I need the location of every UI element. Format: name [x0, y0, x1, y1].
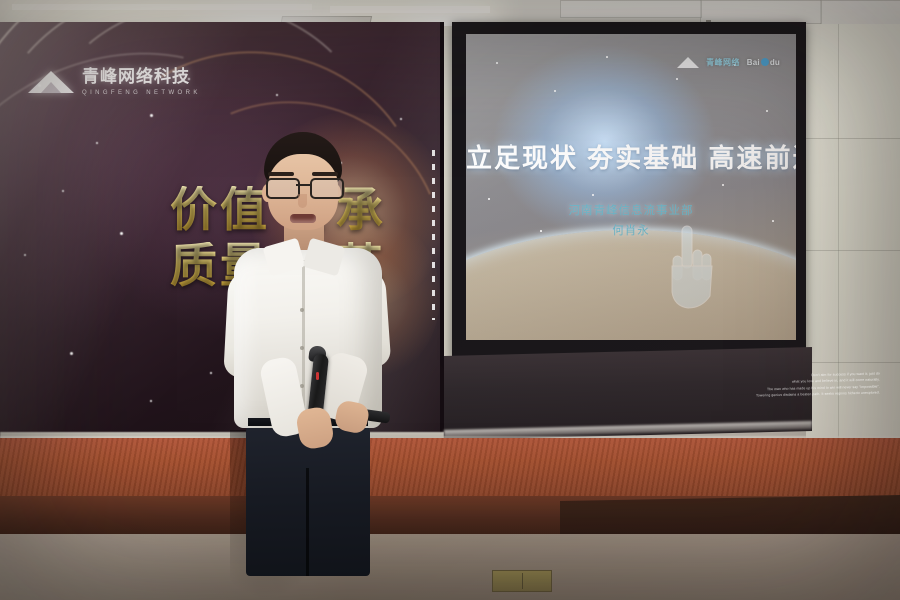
trouser-crease: [306, 468, 309, 576]
wall-seam: [838, 24, 839, 464]
glasses-lens: [266, 178, 300, 199]
ceiling-tile: [560, 0, 702, 18]
projection-screen: 青峰网络 Baidu 立足现状 夯实基础 高速前进 河南青峰信息流事业部 何肖永: [466, 34, 796, 340]
right-wall-panel: [806, 24, 900, 464]
sparkle: [24, 254, 26, 256]
speaker-eyebrow: [268, 172, 294, 176]
sparkle: [276, 94, 278, 96]
sparkle: [120, 232, 123, 235]
shirt-button: [300, 384, 304, 388]
baidu-logo: Baidu: [747, 58, 780, 67]
ceiling-light: [330, 6, 490, 13]
wall-seam: [806, 138, 900, 139]
backdrop-logo-en: QINGFENG NETWORK: [82, 90, 201, 96]
shirt-button: [300, 308, 304, 312]
sparkle: [96, 142, 98, 144]
mountain-logo-icon: [677, 56, 699, 69]
ceiling-tile: [820, 0, 900, 26]
speaker-shirt: [234, 248, 382, 428]
speaker-mouth: [290, 214, 316, 223]
shirt-button: [300, 346, 304, 350]
ceiling-tile: [700, 0, 822, 24]
slide-planet-rim: [466, 230, 796, 340]
glasses-bridge: [296, 184, 310, 186]
wall-seam: [806, 362, 900, 363]
speaker-eyebrow: [312, 172, 338, 176]
glowing-hand-pointing-icon: [662, 222, 716, 312]
speaker: [210, 132, 400, 462]
sparkle: [400, 118, 402, 120]
glasses-lens: [310, 178, 344, 199]
wall-seam: [806, 250, 900, 251]
stage-front-plaque: [492, 570, 552, 592]
slide-subtitle-department: 河南青峰信息流事业部: [466, 202, 796, 218]
baidu-logo-suffix: du: [770, 58, 780, 67]
banner-quote: Don't aim for success if you want it; ju…: [756, 370, 880, 398]
microphone-led: [316, 372, 319, 380]
floor-reflection: [0, 534, 900, 600]
glasses-icon: [266, 178, 342, 195]
slide-logo-cn: 青峰网络: [706, 57, 740, 68]
sparkle: [62, 190, 64, 192]
backdrop-logo-cn: 青峰网络科技: [82, 67, 190, 86]
ceiling-light: [12, 4, 312, 10]
stage-wood-grain: [0, 438, 900, 502]
presentation-photo-scene: 青峰网络科技 QINGFENG NETWORK 价值 传承 质量 变革: [0, 0, 900, 600]
mountain-logo-icon: [28, 69, 74, 95]
baidu-logo-text: Bai: [747, 58, 760, 67]
sparkle: [70, 352, 73, 355]
sparkle: [150, 400, 152, 402]
slide-title: 立足现状 夯实基础 高速前进: [466, 138, 796, 175]
slide-logo-row: 青峰网络 Baidu: [677, 56, 780, 69]
backdrop-company-logo: 青峰网络科技 QINGFENG NETWORK: [28, 68, 201, 96]
sparkle: [150, 114, 153, 117]
speaker-nose: [298, 194, 307, 208]
backdrop-divider: [432, 150, 435, 320]
baidu-paw-icon: [761, 58, 769, 66]
slide-subtitle-presenter: 何肖永: [466, 222, 796, 238]
